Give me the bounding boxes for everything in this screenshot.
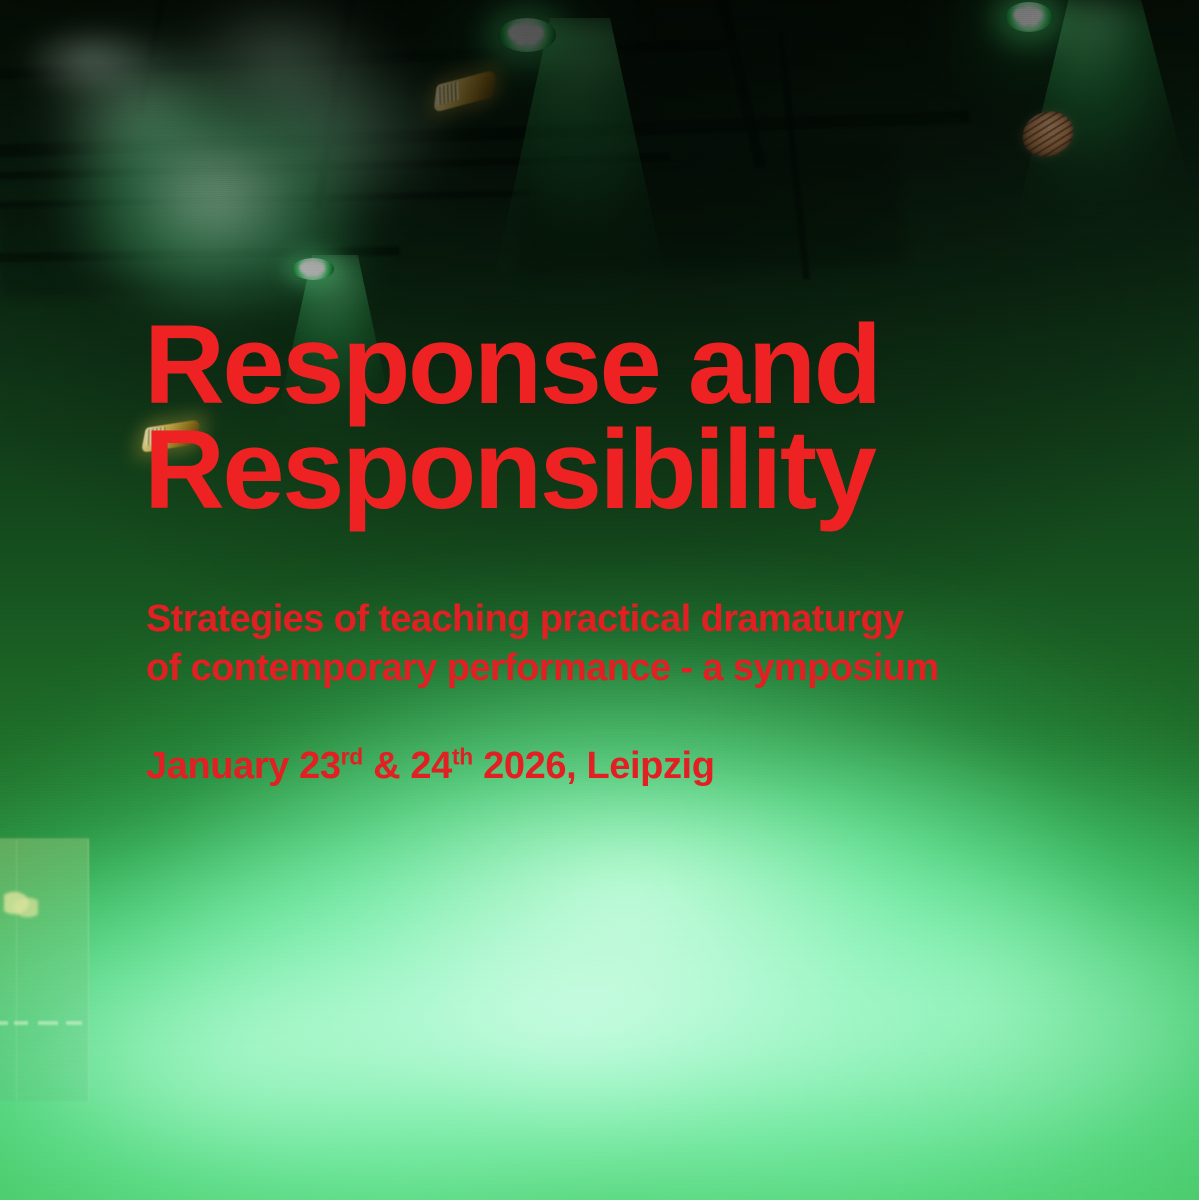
date-city: Leipzig xyxy=(586,745,714,787)
panel-figure xyxy=(4,891,38,921)
panel-divider xyxy=(16,839,17,1101)
poster-canvas: Response and Responsibility Strategies o… xyxy=(0,0,1199,1200)
date-separator: & xyxy=(373,745,400,787)
stage-screen-panel xyxy=(0,838,89,1101)
date-day-1-ordinal: rd xyxy=(341,743,363,769)
poster-text-block: Response and Responsibility Strategies o… xyxy=(144,0,1159,1200)
date-day-2: 24 xyxy=(410,745,451,787)
date-month: January xyxy=(146,745,289,787)
panel-caption-text xyxy=(0,1021,82,1025)
date-day-1: 23 xyxy=(299,745,340,787)
poster-dateline: January 23rd & 24th 2026, Leipzig xyxy=(146,744,715,790)
date-day-2-ordinal: th xyxy=(452,743,473,769)
date-comma: , xyxy=(566,745,576,787)
poster-subtitle: Strategies of teaching practical dramatu… xyxy=(146,595,939,692)
page-title: Response and Responsibility xyxy=(144,312,880,523)
date-year: 2026 xyxy=(483,745,566,787)
